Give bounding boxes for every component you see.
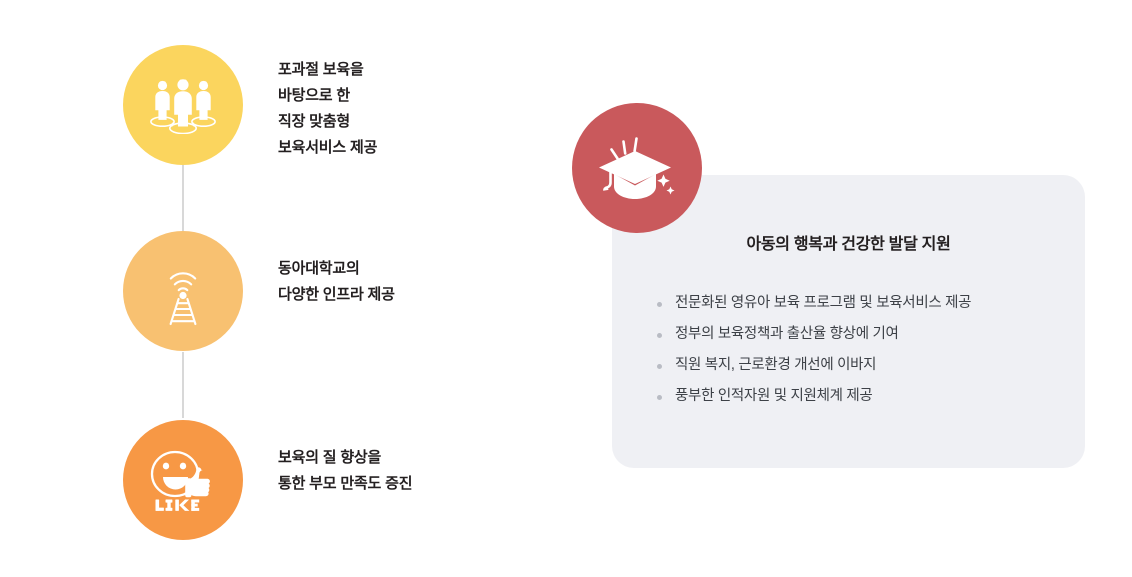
info-card-bullet-list: 전문화된 영유아 보육 프로그램 및 보육서비스 제공 정부의 보육정책과 출산…: [652, 288, 1072, 412]
timeline-step-3-label: 보육의 질 향상을 통한 부모 만족도 증진: [278, 445, 412, 497]
list-item: 정부의 보육정책과 출산율 향상에 기여: [652, 319, 1072, 350]
info-panel: 아동의 행복과 건강한 발달 지원 전문화된 영유아 보육 프로그램 및 보육서…: [560, 0, 1132, 577]
info-card-heading: 아동의 행복과 건강한 발달 지원: [612, 230, 1085, 254]
timeline-step-2-label: 동아대학교의 다양한 인프라 제공: [278, 256, 395, 308]
bullet-marker-icon: [657, 302, 662, 307]
people-network-icon: [147, 76, 219, 134]
list-item: 전문화된 영유아 보육 프로그램 및 보육서비스 제공: [652, 288, 1072, 319]
timeline-connector-2: [182, 352, 184, 418]
list-item-text: 직원 복지, 근로환경 개선에 이바지: [675, 357, 876, 373]
timeline-column: 포과절 보육을 바탕으로 한 직장 맞춤형 보육서비스 제공: [0, 0, 560, 577]
timeline-step-1-label: 포과절 보육을 바탕으로 한 직장 맞춤형 보육서비스 제공: [278, 57, 377, 161]
list-item: 풍부한 인적자원 및 지원체계 제공: [652, 381, 1072, 412]
graduation-cap-icon: [597, 131, 677, 205]
list-item: 직원 복지, 근로환경 개선에 이바지: [652, 350, 1072, 381]
bullet-marker-icon: [657, 333, 662, 338]
timeline-step-3: 보육의 질 향상을 통한 부모 만족도 증진: [0, 420, 560, 550]
bullet-marker-icon: [657, 395, 662, 400]
timeline-step-2-circle: [123, 231, 243, 351]
timeline-step-1: 포과절 보육을 바탕으로 한 직장 맞춤형 보육서비스 제공: [0, 45, 560, 175]
list-item-text: 전문화된 영유아 보육 프로그램 및 보육서비스 제공: [675, 295, 971, 311]
timeline-step-3-circle: [123, 420, 243, 540]
smiley-like-icon: [145, 446, 221, 514]
list-item-text: 정부의 보육정책과 출산율 향상에 기여: [675, 326, 899, 342]
list-item-text: 풍부한 인적자원 및 지원체계 제공: [675, 388, 872, 404]
bullet-marker-icon: [657, 364, 662, 369]
info-card-badge: [572, 103, 702, 233]
timeline-step-1-circle: [123, 45, 243, 165]
timeline-step-2: 동아대학교의 다양한 인프라 제공: [0, 231, 560, 361]
broadcast-tower-icon: [153, 256, 213, 326]
